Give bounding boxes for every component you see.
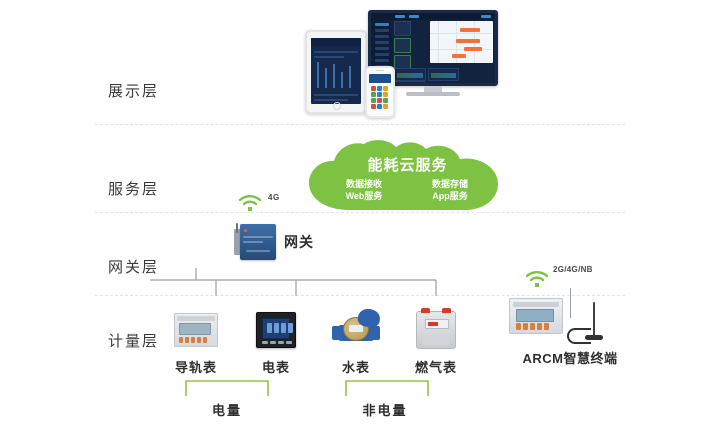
cloud-text-data-receive: 数据接收: [327, 178, 401, 190]
gateway-to-meters-connector: [150, 268, 470, 298]
phone-app-grid: [371, 86, 389, 110]
bracket-lines: [150, 378, 490, 400]
presentation-devices: [305, 8, 540, 120]
layer-label-service: 服务层: [108, 178, 194, 199]
phone-screen: [369, 74, 391, 110]
dashboard-stat-cards: [394, 21, 428, 67]
tablet-device: [305, 30, 367, 114]
arcm-body: [509, 298, 563, 334]
din-rail-meter-icon: [168, 305, 224, 353]
meter-group-brackets: 电量 非电量: [150, 378, 490, 426]
gateway-body: [240, 224, 276, 260]
meter-label-water: 水表: [320, 357, 392, 376]
meter-label-electric: 电表: [240, 357, 312, 376]
layer-divider-presentation: [95, 124, 625, 126]
gas-meter-icon: [408, 305, 464, 353]
dashboard-top-bar: [371, 13, 495, 20]
tablet-screen: [311, 38, 361, 104]
phone-app-header: [369, 74, 391, 83]
wifi-signal-icon: [525, 270, 549, 288]
meter-water: 水表: [320, 305, 392, 376]
electric-meter-icon: [248, 305, 304, 353]
meter-din-rail: 导轨表: [160, 305, 232, 376]
meter-label-din-rail: 导轨表: [160, 357, 232, 376]
phone-device: [365, 66, 395, 118]
meter-electric: 电表: [240, 305, 312, 376]
dashboard-map-panel: [430, 21, 493, 63]
cloud-column-storage: 数据存储 App服务: [413, 178, 487, 202]
meter-label-gas: 燃气表: [400, 357, 472, 376]
architecture-diagram: 展示层 服务层 网关层 计量层: [0, 0, 715, 443]
layer-label-presentation: 展示层: [108, 80, 194, 101]
gateway-device-image: [234, 224, 278, 260]
wifi-signal-icon: [238, 194, 262, 212]
phone-speaker: [376, 70, 384, 71]
gateway-antenna-icon: [236, 223, 238, 233]
gateway-uplink-label: 4G: [268, 193, 280, 202]
water-meter-icon: [328, 305, 384, 353]
arcm-uplink-label: 2G/4G/NB: [553, 265, 593, 274]
arcm-terminal-label: ARCM智慧终端: [487, 348, 653, 367]
group-label-electric: 电量: [182, 400, 272, 419]
arcm-antenna-icon: [567, 302, 607, 346]
cloud-text-app-service: App服务: [413, 190, 487, 202]
gateway-label: 网关: [284, 232, 314, 252]
cloud-text-data-storage: 数据存储: [413, 178, 487, 190]
arcm-terminal-node: 2G/4G/NB ARCM智慧终端: [495, 262, 645, 372]
arcm-device-image: [509, 298, 567, 336]
meter-gas: 燃气表: [400, 305, 472, 376]
cloud-title: 能耗云服务: [305, 154, 510, 175]
tablet-home-button: [333, 102, 341, 110]
tablet-header-bar: [311, 38, 361, 46]
dashboard-bottom-widgets: [394, 68, 493, 81]
monitor-stand-base: [406, 92, 460, 96]
group-label-non-electric: 非电量: [332, 400, 438, 419]
